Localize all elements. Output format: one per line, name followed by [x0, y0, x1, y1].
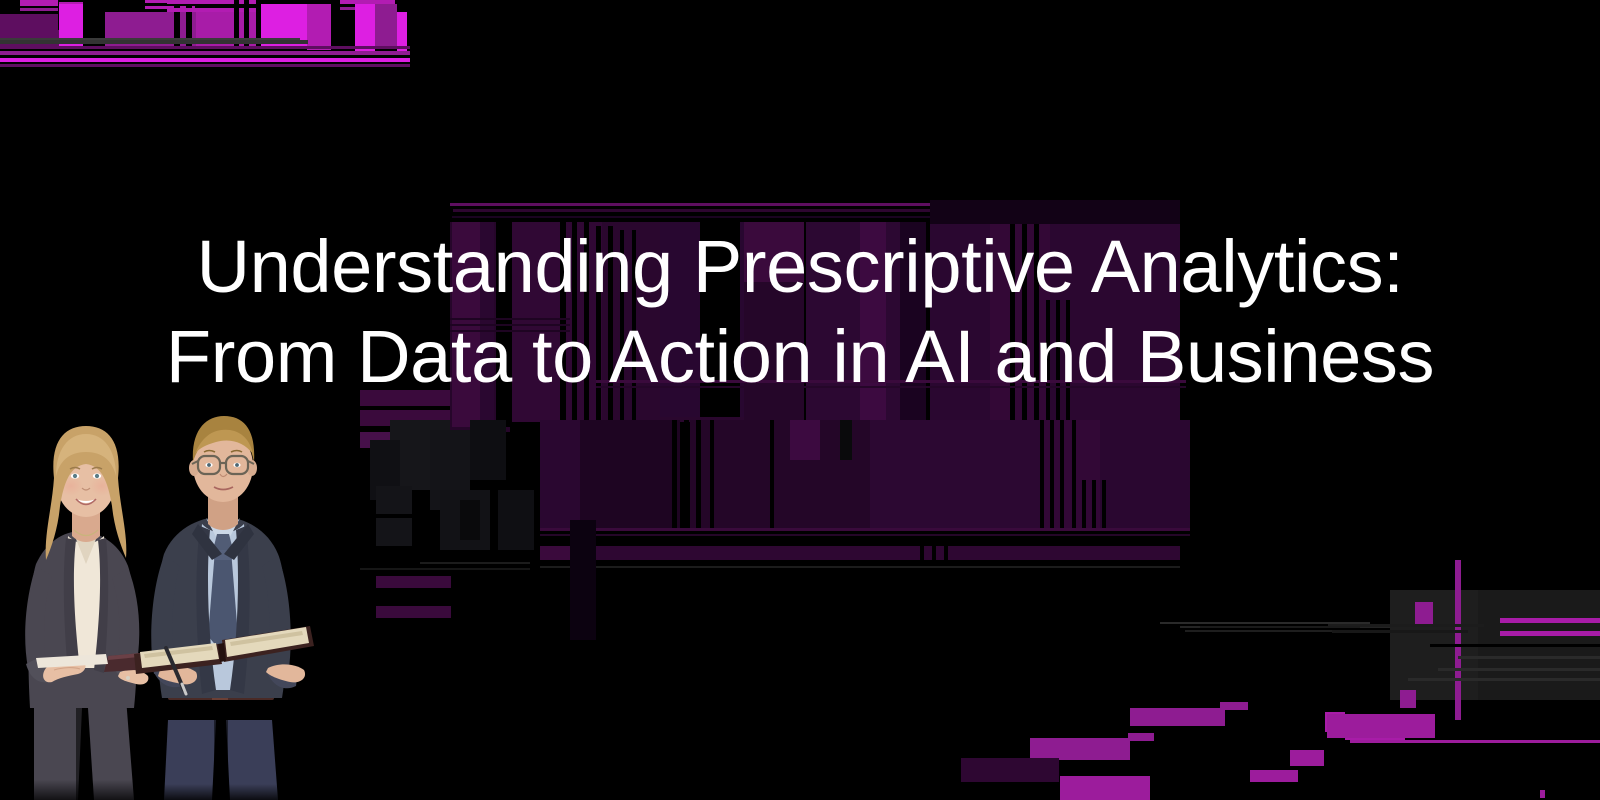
circuit-part-17 — [1030, 738, 1130, 760]
circuit-part-21 — [1290, 750, 1324, 766]
circuit-part-15 — [1130, 708, 1225, 726]
mosaic-block-14 — [620, 230, 624, 420]
mosaic-block-54 — [1100, 420, 1190, 530]
circuit-part-18 — [1128, 733, 1154, 741]
mosaic-block-61 — [1050, 420, 1054, 530]
circuit-part-16 — [1220, 702, 1248, 710]
mosaic-block-35 — [450, 330, 570, 332]
circuit-part-10 — [1332, 630, 1468, 633]
circuit-part-20 — [1060, 776, 1150, 800]
mosaic-block-80 — [376, 606, 451, 618]
mosaic-block-58 — [710, 420, 714, 530]
mosaic-block-59 — [770, 420, 774, 530]
mosaic-block-81 — [570, 520, 596, 640]
mosaic-block-45 — [376, 486, 412, 514]
mosaic-block-60 — [1040, 420, 1044, 530]
mosaic-block-10 — [572, 222, 577, 422]
mosaic-block-37 — [596, 386, 1186, 388]
mosaic-block-56 — [684, 420, 689, 530]
mosaic-block-33 — [450, 318, 570, 320]
man-figure — [134, 416, 314, 800]
mosaic-block-21 — [860, 222, 886, 422]
woman-figure — [25, 426, 172, 800]
circuit-part-4 — [1500, 631, 1600, 636]
mosaic-block-57 — [696, 420, 701, 530]
mosaic-block-68 — [840, 420, 852, 460]
mosaic-block-67 — [790, 420, 820, 460]
business-professionals-photo — [16, 368, 366, 800]
mosaic-block-46 — [376, 518, 412, 546]
circuit-part-19 — [961, 758, 1059, 782]
mosaic-block-75 — [944, 546, 948, 560]
mosaic-block-13 — [608, 226, 613, 422]
mosaic-block-36 — [596, 380, 1186, 383]
mosaic-block-66 — [1102, 480, 1106, 530]
mosaic-block-69 — [540, 528, 1190, 531]
glitch-bar-46 — [0, 58, 410, 62]
mosaic-block-76 — [420, 562, 530, 564]
glitch-bar-35 — [307, 0, 331, 4]
mosaic-block-78 — [360, 568, 530, 570]
glitch-bar-43 — [0, 40, 308, 44]
mosaic-block-23 — [930, 200, 1180, 224]
circuit-part-14 — [1327, 714, 1435, 738]
mosaic-block-34 — [450, 324, 570, 326]
mosaic-block-55 — [672, 420, 677, 530]
mosaic-block-19 — [744, 282, 804, 422]
glitch-bar-45 — [0, 51, 410, 55]
mosaic-block-29 — [1034, 224, 1039, 424]
glitch-bar-34 — [307, 0, 331, 50]
glitch-bar-33 — [261, 0, 307, 4]
mosaic-block-32 — [1066, 300, 1070, 424]
mosaic-block-28 — [1022, 224, 1027, 424]
circuit-part-7 — [1438, 668, 1600, 671]
circuit-traces-graphic — [960, 590, 1600, 800]
mosaic-block-53 — [1040, 420, 1100, 530]
mosaic-block-77 — [540, 566, 1180, 568]
mosaic-block-30 — [1046, 300, 1050, 424]
glitch-bar-44 — [0, 46, 410, 49]
mosaic-block-9 — [560, 222, 566, 422]
mosaic-block-82 — [460, 500, 480, 540]
top-glitch-bar — [0, 0, 420, 68]
mosaic-block-73 — [920, 546, 924, 560]
mosaic-block-38 — [360, 390, 450, 406]
mosaic-block-65 — [1092, 480, 1096, 530]
mosaic-block-74 — [932, 546, 936, 560]
mosaic-block-25 — [990, 224, 1050, 424]
mosaic-block-12 — [596, 226, 601, 422]
mosaic-block-26 — [1060, 224, 1180, 424]
circuit-part-24 — [1350, 740, 1600, 743]
mosaic-block-48 — [498, 490, 534, 550]
glitch-bar-47 — [0, 64, 410, 67]
mosaic-block-71 — [540, 546, 1180, 560]
mosaic-block-62 — [1060, 420, 1064, 530]
mosaic-block-27 — [1010, 224, 1015, 424]
mosaic-block-15 — [632, 230, 636, 420]
mosaic-block-31 — [1056, 300, 1060, 424]
mosaic-block-22 — [900, 222, 926, 422]
circuit-part-8 — [1408, 678, 1600, 681]
circuit-part-22 — [1250, 770, 1298, 782]
circuit-part-23 — [1415, 602, 1433, 624]
mosaic-block-70 — [540, 534, 1190, 536]
mosaic-block-18 — [744, 222, 804, 282]
mosaic-block-44 — [470, 420, 506, 480]
mosaic-block-11 — [584, 222, 589, 422]
circuit-part-2 — [1455, 560, 1461, 720]
circuit-part-11 — [1200, 626, 1360, 628]
glitch-bar-39 — [355, 4, 375, 52]
mosaic-block-79 — [376, 576, 451, 588]
mosaic-block-63 — [1072, 420, 1076, 530]
left-edge-mark — [1400, 690, 1416, 708]
bottom-right-dot — [1540, 790, 1545, 798]
circuit-part-3 — [1500, 618, 1600, 623]
hero-banner: Understanding Prescriptive Analytics: Fr… — [0, 0, 1600, 800]
circuit-part-5 — [1430, 644, 1600, 647]
mosaic-block-64 — [1082, 480, 1086, 530]
glitch-bar-40 — [375, 4, 397, 46]
circuit-part-6 — [1458, 656, 1600, 659]
mosaic-block-50 — [540, 420, 580, 530]
